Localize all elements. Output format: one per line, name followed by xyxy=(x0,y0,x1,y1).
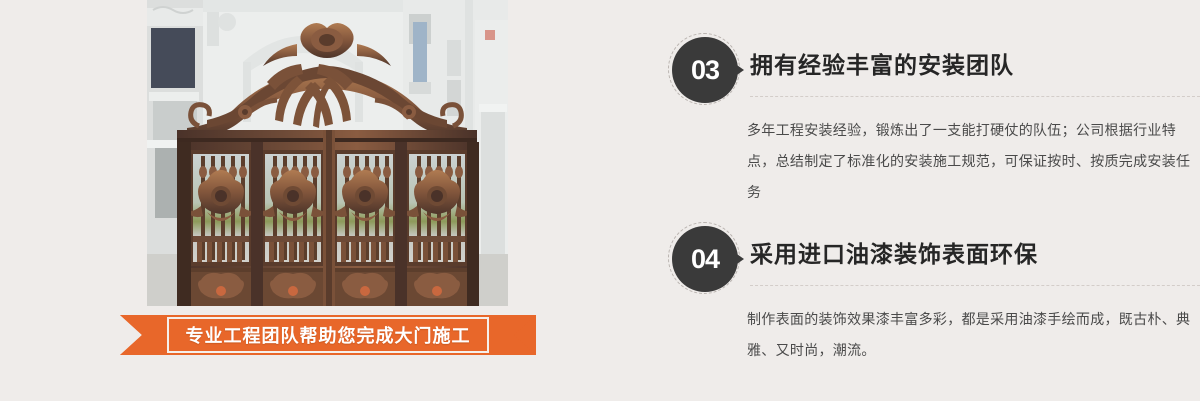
ribbon-text: 专业工程团队帮助您完成大门施工 xyxy=(120,315,536,355)
gate-photo xyxy=(147,0,508,306)
badge-number-04: 04 xyxy=(672,226,738,292)
gate-photo-illustration xyxy=(147,0,508,306)
feature-badge-04: 04 xyxy=(668,222,744,298)
feature-title-03: 拥有经验丰富的安装团队 xyxy=(750,46,1014,80)
ribbon-banner: 专业工程团队帮助您完成大门施工 xyxy=(120,315,536,355)
feature-title-04: 采用进口油漆装饰表面环保 xyxy=(750,235,1038,269)
feature-divider-03 xyxy=(750,96,1200,97)
badge-number-03: 03 xyxy=(672,37,738,103)
feature-body-04: 制作表面的装饰效果漆丰富多彩，都是采用油漆手绘而成，既古朴、典雅、又时尚，潮流。 xyxy=(747,304,1200,366)
feature-body-03: 多年工程安装经验，锻炼出了一支能打硬仗的队伍；公司根据行业特点，总结制定了标准化… xyxy=(747,115,1200,208)
feature-divider-04 xyxy=(750,285,1200,286)
features-column: 03 拥有经验丰富的安装团队 多年工程安装经验，锻炼出了一支能打硬仗的队伍；公司… xyxy=(660,0,1200,401)
feature-badge-03: 03 xyxy=(668,33,744,109)
